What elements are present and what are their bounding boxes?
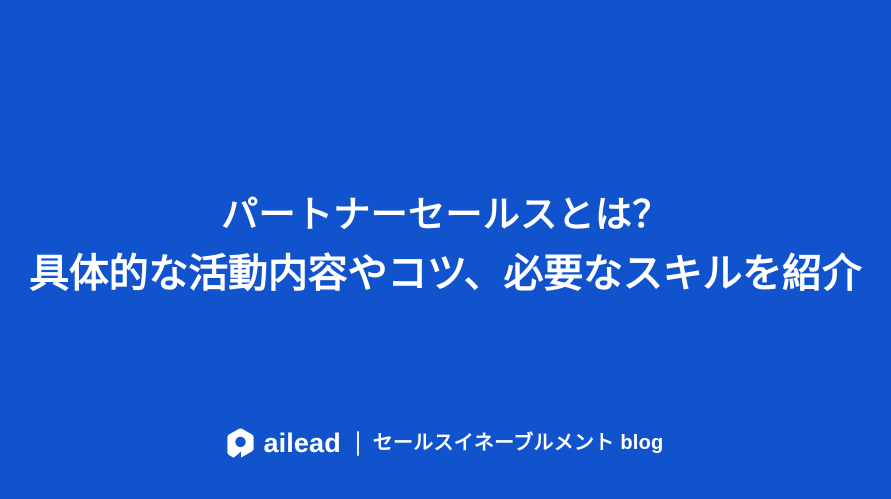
brand-wordmark: ailead [263,428,340,458]
page-title: パートナーセールスとは？ 具体的な活動内容やコツ、必要なスキルを紹介 [0,186,891,305]
blog-title-banner: パートナーセールスとは？ 具体的な活動内容やコツ、必要なスキルを紹介 ailea… [0,0,891,499]
ailead-hexagon-logo-icon [227,428,254,458]
brand-tagline: セールスイネーブルメント blog [373,428,664,458]
brand-footer: ailead セールスイネーブルメント blog [0,428,891,458]
brand-divider [357,431,359,456]
title-line-1: パートナーセールスとは？ [18,186,873,243]
title-line-2: 具体的な活動内容やコツ、必要なスキルを紹介 [18,243,873,305]
